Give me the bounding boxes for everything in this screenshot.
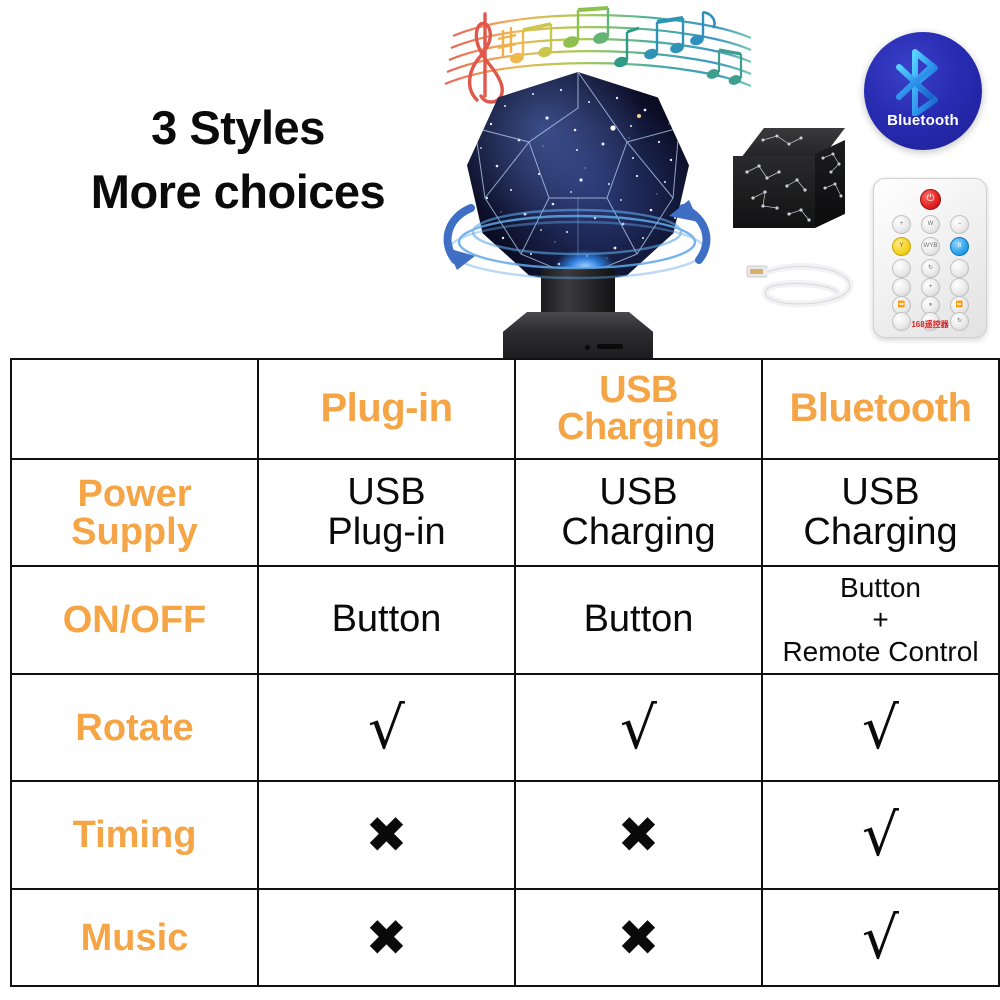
bluetooth-badge: Bluetooth (864, 32, 982, 150)
headline-line-1: 3 Styles (38, 96, 438, 160)
check-mark: √ (763, 806, 998, 864)
cell-rotate-bluetooth: √ (762, 674, 999, 781)
cell-line3: Remote Control (763, 636, 998, 668)
cell-line1: Button (763, 572, 998, 604)
cell-power-bluetooth: USB Charging (762, 459, 999, 566)
usb-cable (745, 252, 865, 314)
row-label-music: Music (11, 889, 258, 986)
header-label-usb-line2: Charging (516, 409, 761, 446)
table-header-row: Plug-in USB Charging Bluetooth (11, 359, 999, 459)
remote-volume-up-button[interactable]: + (921, 278, 940, 297)
cross-mark: ✖ (516, 913, 761, 963)
constellation-gift-box (733, 128, 853, 233)
cell-music-usb: ✖ (515, 889, 762, 986)
remote-blue-button[interactable]: B (950, 237, 969, 256)
cell-timing-bluetooth: √ (762, 781, 999, 889)
rotation-arrows-icon (427, 184, 727, 294)
comparison-table: Plug-in USB Charging Bluetooth Power Sup… (10, 358, 1000, 987)
row-label-timing: Timing (11, 781, 258, 889)
cell-rotate-plugin: √ (258, 674, 515, 781)
row-label-on-off: ON/OFF (11, 566, 258, 674)
table-row-power-supply: Power Supply USB Plug-in USB Charging US… (11, 459, 999, 566)
cell-power-plugin: USB Plug-in (258, 459, 515, 566)
table-row-rotate: Rotate √ √ √ (11, 674, 999, 781)
header-cell-usb: USB Charging (515, 359, 762, 459)
remote-control: ⏻ + W − Y WYB B ↻ + ⏪ ⏸ ⏩ − ↻ 168遥控器 (873, 178, 987, 338)
cell-onoff-usb: Button (515, 566, 762, 674)
remote-wyb-button[interactable]: WYB (921, 237, 940, 256)
star-projector-lamp (445, 72, 710, 358)
cell-line2: Charging (516, 513, 761, 553)
table-row-music: Music ✖ ✖ √ (11, 889, 999, 986)
cell-timing-usb: ✖ (515, 781, 762, 889)
cross-mark: ✖ (259, 913, 514, 963)
cell-line2: Plug-in (259, 513, 514, 553)
header-label-usb-line1: USB (516, 372, 761, 409)
remote-timer-button[interactable] (892, 259, 911, 278)
row-label-power-supply: Power Supply (11, 459, 258, 566)
check-mark: √ (516, 699, 761, 757)
bluetooth-rune-icon (890, 48, 952, 116)
row-label-line1: Timing (12, 816, 257, 854)
base-indicator-led (585, 345, 590, 350)
cell-power-usb: USB Charging (515, 459, 762, 566)
base-usb-port (597, 344, 623, 349)
cell-line1: USB (259, 473, 514, 513)
header-cell-empty (11, 359, 258, 459)
cell-rotate-usb: √ (515, 674, 762, 781)
row-label-line1: ON/OFF (12, 601, 257, 639)
infographic-root: 3 Styles More choices (0, 0, 1000, 1000)
row-label-line1: Music (12, 919, 257, 957)
row-label-line1: Rotate (12, 709, 257, 747)
bluetooth-badge-label: Bluetooth (864, 112, 982, 129)
check-mark: √ (763, 909, 998, 967)
cell-line1: USB (516, 473, 761, 513)
cell-music-plugin: ✖ (258, 889, 515, 986)
remote-rotate-button[interactable]: ↻ (921, 259, 940, 278)
remote-minus-button[interactable]: − (950, 215, 969, 234)
row-label-line1: Power (12, 475, 257, 513)
cross-mark: ✖ (516, 810, 761, 860)
hero-section: 3 Styles More choices (0, 0, 1000, 358)
remote-plus-button[interactable]: + (892, 215, 911, 234)
header-label-bluetooth: Bluetooth (763, 388, 998, 430)
cell-timing-plugin: ✖ (258, 781, 515, 889)
cell-music-bluetooth: √ (762, 889, 999, 986)
remote-w-button[interactable]: W (921, 215, 940, 234)
cross-mark: ✖ (259, 810, 514, 860)
cell-onoff-bluetooth: Button + Remote Control (762, 566, 999, 674)
header-cell-plugin: Plug-in (258, 359, 515, 459)
page-title: 3 Styles More choices (38, 96, 438, 224)
cell-onoff-plugin: Button (258, 566, 515, 674)
table-row-timing: Timing ✖ ✖ √ (11, 781, 999, 889)
headline-line-2: More choices (38, 160, 438, 224)
constellation-pattern (733, 128, 853, 233)
row-label-line2: Supply (12, 513, 257, 551)
header-cell-bluetooth: Bluetooth (762, 359, 999, 459)
cell-line1: Button (516, 600, 761, 640)
remote-yellow-button[interactable]: Y (892, 237, 911, 256)
row-label-rotate: Rotate (11, 674, 258, 781)
table-row-on-off: ON/OFF Button Button Button + Remote Con… (11, 566, 999, 674)
cell-line1: USB (763, 473, 998, 513)
check-mark: √ (763, 699, 998, 757)
header-label-plugin: Plug-in (259, 388, 514, 430)
remote-10min-button[interactable] (892, 278, 911, 297)
remote-power-button[interactable]: ⏻ (920, 189, 941, 210)
remote-mode-button[interactable] (950, 259, 969, 278)
projector-base (503, 312, 653, 358)
cell-line2: + (763, 604, 998, 636)
check-mark: √ (259, 699, 514, 757)
remote-model-label: 168遥控器 (874, 319, 986, 330)
cell-line1: Button (259, 600, 514, 640)
remote-60min-button[interactable] (950, 278, 969, 297)
cell-line2: Charging (763, 513, 998, 553)
